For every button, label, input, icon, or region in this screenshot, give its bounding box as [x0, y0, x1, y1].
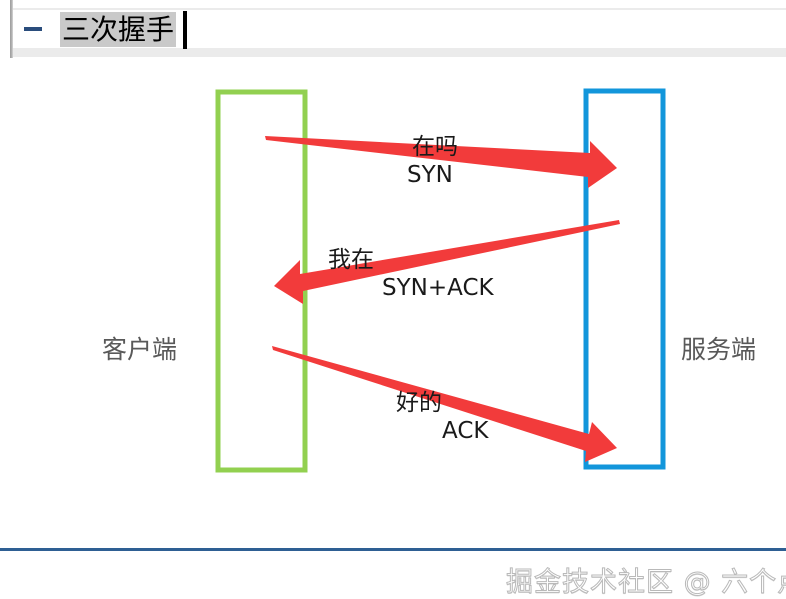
server-lifeline-box[interactable]	[586, 91, 663, 467]
outline-gutter-line	[10, 0, 13, 58]
message-en-text: SYN+ACK	[382, 274, 494, 302]
message-label-syn-ack: 我在 SYN+ACK	[328, 246, 494, 302]
header-divider-bottom	[13, 48, 786, 57]
message-label-syn: 在吗 SYN	[412, 133, 458, 189]
message-en-text: ACK	[442, 417, 488, 445]
text-cursor-caret	[183, 11, 187, 49]
handshake-diagram: 客户端 服务端 在吗 SYN 我在 SYN+ACK 好的 ACK 掘金技术社区 …	[0, 58, 786, 551]
minus-icon[interactable]	[24, 27, 42, 31]
diagram-canvas	[0, 58, 786, 551]
message-label-ack: 好的 ACK	[396, 389, 488, 445]
outline-header-bar: 三次握手	[0, 0, 786, 58]
watermark-text: 掘金技术社区 @ 六个点	[506, 560, 786, 599]
server-label: 服务端	[681, 330, 756, 366]
message-en-text: SYN	[407, 161, 458, 189]
client-label: 客户端	[102, 330, 177, 366]
message-cn-text: 我在	[328, 246, 494, 274]
message-cn-text: 好的	[396, 389, 488, 417]
outline-title-text[interactable]: 三次握手	[60, 12, 176, 47]
message-cn-text: 在吗	[412, 133, 458, 161]
